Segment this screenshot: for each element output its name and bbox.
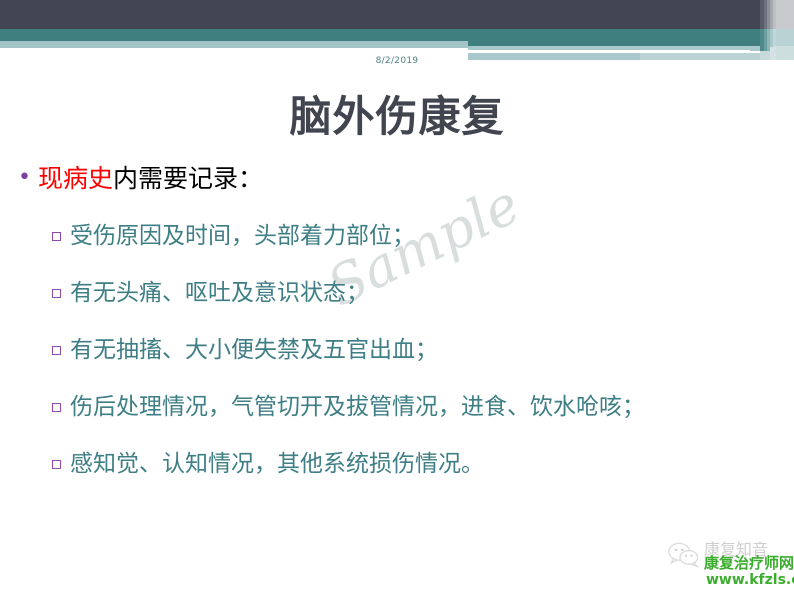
list-item: 伤后处理情况，气管切开及拔管情况，进食、饮水呛咳； (0, 392, 794, 449)
square-bullet-icon (52, 403, 70, 412)
list-item-label: 有无抽搐、大小便失禁及五官出血； (70, 335, 438, 365)
list-item: 有无抽搐、大小便失禁及五官出血； (0, 335, 794, 392)
footer-brand-logo: 康复知音 康复治疗师网 www.kfzls.com (660, 538, 794, 595)
square-bullet-icon (52, 289, 70, 298)
header-band-teal-left (0, 29, 468, 41)
level2-list: 受伤原因及时间，头部着力部位； 有无头痛、呕吐及意识状态； 有无抽搐、大小便失禁… (0, 221, 794, 506)
brand-name-label: 康复治疗师网 (704, 554, 794, 572)
square-bullet-icon (52, 346, 70, 355)
list-item-label: 有无头痛、呕吐及意识状态； (70, 278, 369, 308)
level1-accent-text: 现病史 (38, 164, 113, 193)
list-item: 感知觉、认知情况，其他系统损伤情况。 (0, 449, 794, 506)
page-title: 脑外伤康复 (0, 92, 794, 142)
presentation-slide: 8/2/2019 脑外伤康复 Sample • 现病史内需要记录： 受伤原因及时… (0, 0, 794, 595)
level1-rest-text: 内需要记录： (113, 164, 263, 193)
list-item-label: 感知觉、认知情况，其他系统损伤情况。 (70, 449, 484, 479)
header-vstripe-6 (776, 0, 794, 29)
header-band-teal-right (468, 29, 760, 46)
slide-body: • 现病史内需要记录： 受伤原因及时间，头部着力部位； 有无头痛、呕吐及意识状态… (0, 163, 794, 506)
square-bullet-icon (52, 232, 70, 241)
wechat-icon (668, 542, 700, 568)
list-item-label: 受伤原因及时间，头部着力部位； (70, 221, 415, 251)
square-bullet-icon (52, 460, 70, 469)
slide-date: 8/2/2019 (0, 56, 794, 66)
level1-text: 现病史内需要记录： (38, 163, 263, 195)
header-band-dark (0, 0, 760, 29)
list-item: 受伤原因及时间，头部着力部位； (0, 221, 794, 278)
level1-bullet-row: • 现病史内需要记录： (0, 163, 794, 205)
list-item: 有无头痛、呕吐及意识状态； (0, 278, 794, 335)
header-vstripe-teal-6 (776, 29, 794, 46)
brand-url-label: www.kfzls.com (706, 572, 794, 589)
round-bullet-icon: • (18, 163, 38, 193)
list-item-label: 伤后处理情况，气管切开及拔管情况，进食、饮水呛咳； (70, 392, 645, 422)
header-band-pale-left (0, 41, 468, 48)
